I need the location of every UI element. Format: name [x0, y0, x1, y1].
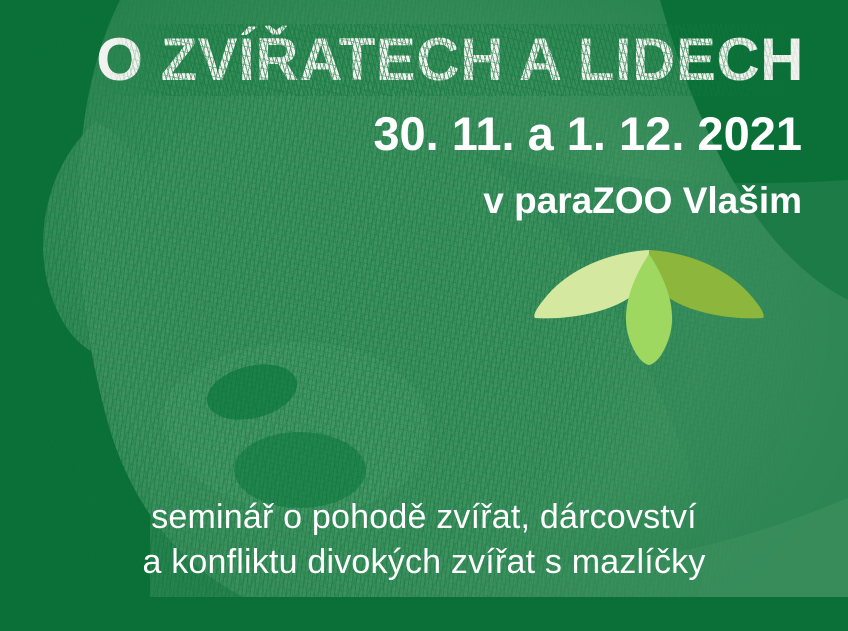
page-title-text: O ZVÍŘATECH A LIDECH — [96, 26, 804, 93]
event-date: 30. 11. a 1. 12. 2021 — [0, 110, 802, 157]
event-tagline: seminář o pohodě zvířat, dárcovství a ko… — [0, 495, 848, 585]
event-venue: v paraZOO Vlašim — [0, 182, 802, 219]
event-poster: O ZVÍŘATECH A LIDECH 30. 11. a 1. 12. 20… — [0, 0, 848, 631]
tagline-line-2: a konfliktu divokých zvířat s mazlíčky — [0, 540, 848, 585]
text-layer: O ZVÍŘATECH A LIDECH 30. 11. a 1. 12. 20… — [0, 0, 848, 631]
page-title: O ZVÍŘATECH A LIDECH — [0, 30, 804, 90]
tagline-line-1: seminář o pohodě zvířat, dárcovství — [0, 495, 848, 540]
